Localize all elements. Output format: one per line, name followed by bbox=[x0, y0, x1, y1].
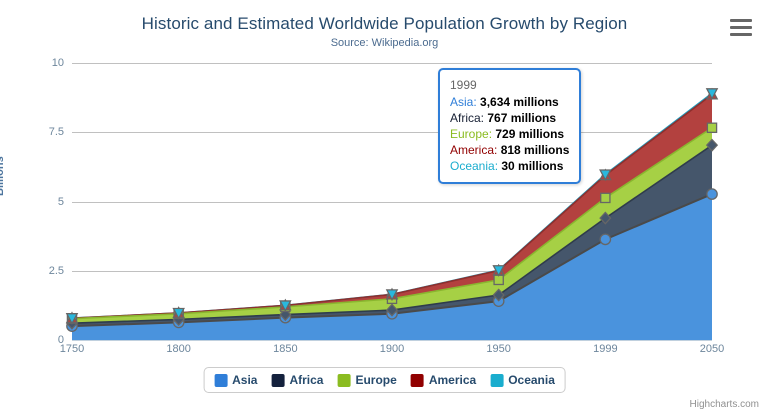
marker-asia[interactable] bbox=[707, 189, 717, 199]
hamburger-menu-icon[interactable] bbox=[730, 19, 752, 36]
x-axis-tick-label: 1800 bbox=[166, 343, 190, 355]
tooltip-series-name: America: bbox=[450, 143, 501, 157]
x-axis-tick-label: 2050 bbox=[700, 343, 724, 355]
x-axis-labels: 1750180018501900195019992050 bbox=[72, 343, 712, 363]
marker-europe[interactable] bbox=[601, 193, 610, 202]
legend-swatch-icon bbox=[271, 374, 284, 387]
chart-subtitle: Source: Wikipedia.org bbox=[0, 37, 769, 49]
legend-label: Oceania bbox=[508, 373, 555, 387]
tooltip-row: Africa: 767 millions bbox=[450, 110, 569, 126]
legend-item-africa[interactable]: Africa bbox=[271, 373, 323, 387]
marker-asia[interactable] bbox=[600, 234, 610, 244]
legend-item-europe[interactable]: Europe bbox=[337, 373, 396, 387]
x-axis-line bbox=[72, 340, 712, 341]
tooltip-series-value: 818 millions bbox=[501, 143, 570, 157]
x-axis-tick-label: 1999 bbox=[593, 343, 617, 355]
legend-item-america[interactable]: America bbox=[411, 373, 476, 387]
hamburger-line bbox=[730, 33, 752, 36]
tooltip-series-value: 729 millions bbox=[495, 127, 564, 141]
tooltip-row: Europe: 729 millions bbox=[450, 126, 569, 142]
hamburger-line bbox=[730, 19, 752, 22]
x-axis-tick-label: 1750 bbox=[60, 343, 84, 355]
legend-label: Africa bbox=[289, 373, 323, 387]
tooltip-series-value: 767 millions bbox=[487, 111, 556, 125]
tooltip-rows: Asia: 3,634 millionsAfrica: 767 millions… bbox=[450, 94, 569, 174]
x-axis-tick-label: 1950 bbox=[486, 343, 510, 355]
y-axis-tick-label: 5 bbox=[58, 196, 64, 208]
chart-title: Historic and Estimated Worldwide Populat… bbox=[0, 14, 769, 34]
highcharts-container: Historic and Estimated Worldwide Populat… bbox=[0, 0, 769, 416]
legend-label: Asia bbox=[232, 373, 257, 387]
tooltip-series-value: 3,634 millions bbox=[480, 95, 559, 109]
legend-item-asia[interactable]: Asia bbox=[214, 373, 257, 387]
series-group bbox=[72, 63, 712, 340]
hamburger-line bbox=[730, 26, 752, 29]
y-axis-labels: 02.557.510 bbox=[0, 63, 64, 340]
plot-area bbox=[72, 63, 712, 340]
tooltip-series-name: Europe: bbox=[450, 127, 495, 141]
tooltip-row: Asia: 3,634 millions bbox=[450, 94, 569, 110]
y-axis-tick-label: 10 bbox=[52, 57, 64, 69]
tooltip-row: America: 818 millions bbox=[450, 142, 569, 158]
credits-label: Highcharts.com bbox=[690, 399, 759, 410]
legend-swatch-icon bbox=[490, 374, 503, 387]
legend-item-oceania[interactable]: Oceania bbox=[490, 373, 555, 387]
x-axis-tick-label: 1850 bbox=[273, 343, 297, 355]
tooltip-series-name: Africa: bbox=[450, 111, 487, 125]
legend-label: America bbox=[429, 373, 476, 387]
tooltip-series-name: Asia: bbox=[450, 95, 480, 109]
tooltip: 1999 Asia: 3,634 millionsAfrica: 767 mil… bbox=[438, 68, 581, 184]
chart-legend[interactable]: AsiaAfricaEuropeAmericaOceania bbox=[203, 367, 566, 393]
tooltip-series-value: 30 millions bbox=[501, 159, 563, 173]
y-axis-tick-label: 7.5 bbox=[49, 126, 64, 138]
legend-swatch-icon bbox=[411, 374, 424, 387]
x-axis-tick-label: 1900 bbox=[380, 343, 404, 355]
tooltip-series-name: Oceania: bbox=[450, 159, 501, 173]
legend-label: Europe bbox=[355, 373, 396, 387]
legend-swatch-icon bbox=[337, 374, 350, 387]
tooltip-row: Oceania: 30 millions bbox=[450, 158, 569, 174]
legend-swatch-icon bbox=[214, 374, 227, 387]
tooltip-header: 1999 bbox=[450, 77, 569, 94]
marker-europe[interactable] bbox=[707, 123, 716, 132]
y-axis-tick-label: 2.5 bbox=[49, 265, 64, 277]
